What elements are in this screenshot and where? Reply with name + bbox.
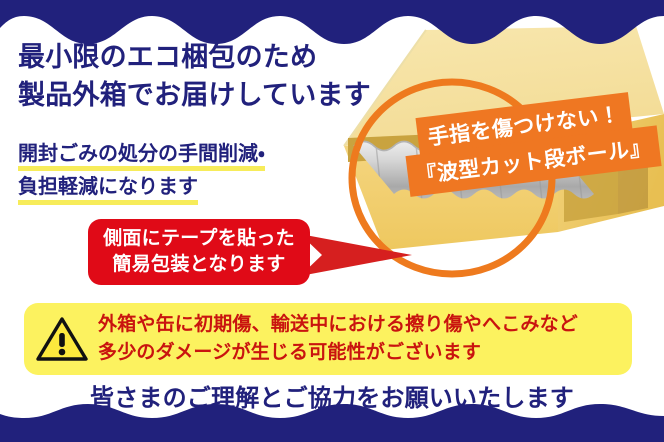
eco-packaging-banner: 最小限のエコ梱包のため 製品外箱でお届けしています 開封ごみの処分の手間削減・ … [0, 0, 664, 442]
headline-line-1: 最小限のエコ梱包のため [18, 38, 371, 76]
subtitle: 開封ごみの処分の手間削減・ 負担軽減になります [18, 138, 265, 205]
closing-message: 皆さまのご理解とご協力をお願いいたします [0, 378, 664, 413]
red-callout-line-2: 簡易包装となります [112, 252, 285, 278]
page-title: 最小限のエコ梱包のため 製品外箱でお届けしています [18, 38, 371, 115]
warning-text: 外箱や缶に初期傷、輸送中における擦り傷やへこみなど 多少のダメージが生じる可能性… [98, 311, 578, 366]
red-callout-line-1: 側面にテープを貼った [103, 226, 295, 252]
warning-triangle-icon [36, 316, 88, 362]
headline-line-2: 製品外箱でお届けしています [18, 76, 371, 114]
subheadline-line-2: 負担軽減になります [18, 171, 198, 204]
red-callout-bubble: 側面にテープを貼った 簡易包装となります [88, 219, 310, 285]
warning-notice-box: 外箱や缶に初期傷、輸送中における擦り傷やへこみなど 多少のダメージが生じる可能性… [24, 303, 632, 375]
warning-line-1: 外箱や缶に初期傷、輸送中における擦り傷やへこみなど [98, 311, 578, 339]
warning-line-2: 多少のダメージが生じる可能性がございます [98, 339, 578, 367]
subheadline-line-1: 開封ごみの処分の手間削減・ [18, 138, 265, 171]
